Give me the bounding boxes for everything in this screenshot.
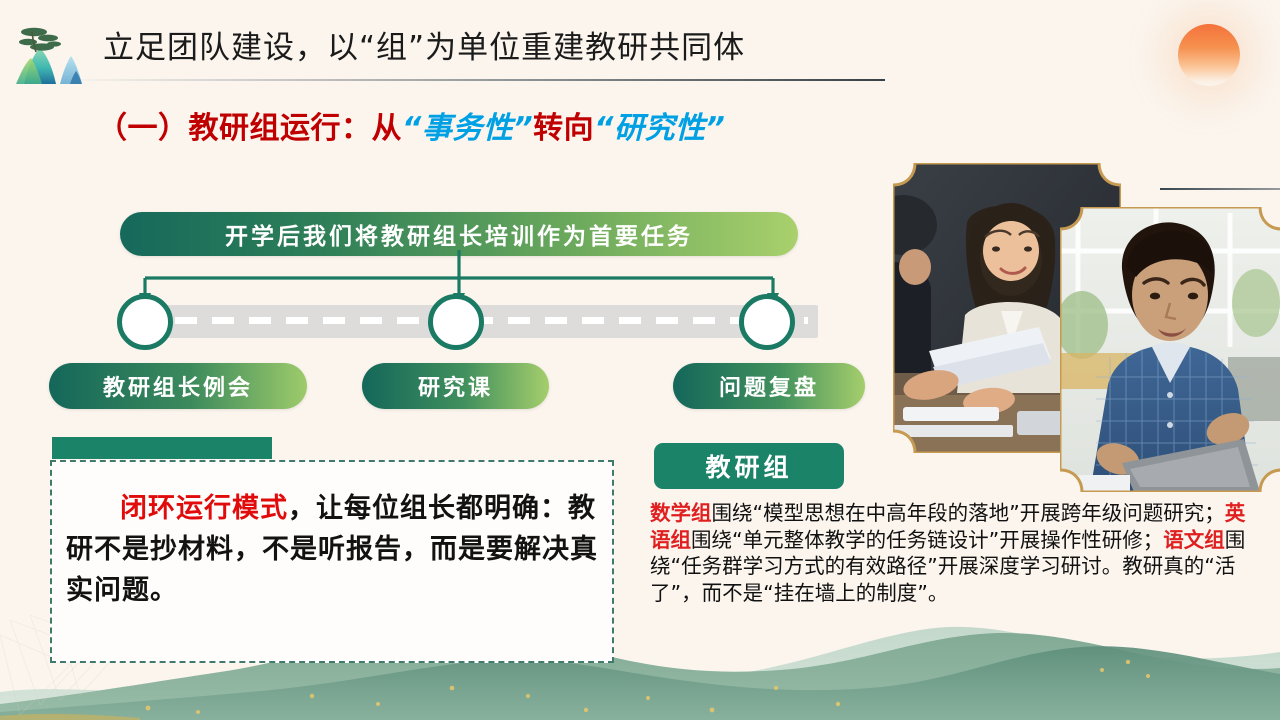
flow-step-label-1: 教研组长例会: [49, 363, 307, 409]
flow-node-1: [117, 294, 173, 350]
section-subtitle: （一）教研组运行：从“事务性”转向“研究性”: [97, 103, 725, 147]
callout-text: 闭环运行模式，让每位组长都明确：教研不是抄材料，不是听报告，而是要解决真实问题。: [66, 488, 602, 611]
subtitle-part-1: （一）教研组运行：从: [97, 111, 402, 146]
flow-diagram: 开学后我们将教研组长培训作为首要任务 教研组长例会 研究课 问题复盘: [0, 195, 880, 425]
callout-tab: [52, 437, 272, 459]
flow-node-2: [428, 294, 484, 350]
slide: 立足团队建设，以“组”为单位重建教研共同体 （一）教研组运行：从“事务性”转向“…: [0, 0, 1280, 720]
subtitle-part-2: 转向: [533, 111, 594, 146]
text-segment-math-body: 围绕“模型思想在中高年段的落地”开展跨年级问题研究；: [712, 501, 1225, 525]
text-segment-math-group: 数学组: [650, 501, 712, 525]
callout-highlight: 闭环运行模式: [120, 493, 288, 524]
page-title: 立足团队建设，以“组”为单位重建教研共同体: [103, 22, 745, 67]
subtitle-quote-2: “研究性”: [594, 111, 725, 146]
right-panel-text: 数学组围绕“模型思想在中高年段的落地”开展跨年级问题研究；英语组围绕“单元整体教…: [650, 500, 1264, 607]
mountain-pine-landscape-icon: [8, 14, 86, 90]
flow-step-label-2: 研究课: [362, 363, 549, 409]
callout-box: 闭环运行模式，让每位组长都明确：教研不是抄材料，不是听报告，而是要解决真实问题。: [50, 460, 614, 663]
right-divider: [1160, 188, 1280, 190]
flow-step-label-3: 问题复盘: [673, 363, 865, 409]
text-segment-chinese-group: 语文组: [1163, 528, 1225, 552]
flow-node-3: [739, 294, 795, 350]
subtitle-quote-1: “事务性”: [402, 111, 533, 146]
header-divider: [60, 79, 885, 81]
photo-teacher-with-tablet: [1060, 207, 1280, 492]
group-badge: 教研组: [654, 443, 844, 489]
text-segment-english-body: 围绕“单元整体教学的任务链设计”开展操作性研修；: [691, 528, 1163, 552]
sun-icon: [1178, 24, 1240, 86]
